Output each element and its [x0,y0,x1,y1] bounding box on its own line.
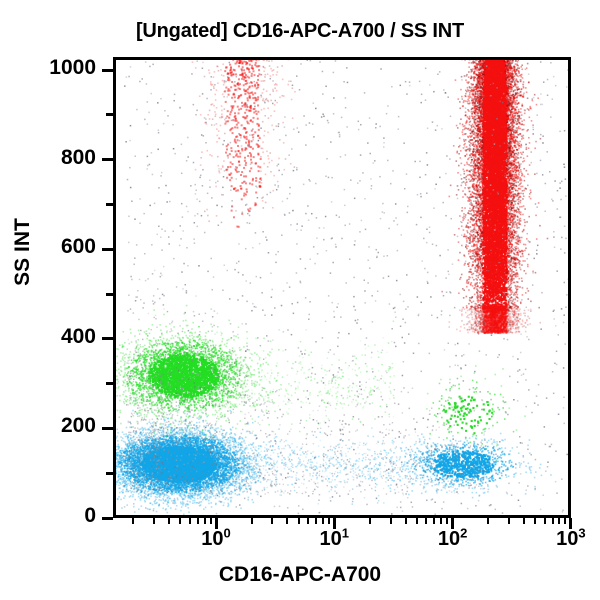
x-tick-minor [544,518,546,524]
y-tick-minor [106,293,113,296]
x-tick-label: 101 [320,528,349,551]
x-axis-title: CD16-APC-A700 [0,563,600,587]
y-axis-title: SS INT [11,182,35,322]
x-tick-label: 102 [438,528,467,551]
y-tick-label: 400 [26,325,96,349]
x-tick-minor [189,518,191,524]
x-tick-minor [552,518,554,524]
x-tick-minor [322,518,324,524]
x-tick-minor [307,518,309,524]
x-tick-label: 103 [556,528,585,551]
x-tick-minor [440,518,442,524]
y-tick-minor [106,203,113,206]
x-tick-minor [179,518,181,524]
x-tick-minor [433,518,435,524]
y-tick-major [102,337,113,340]
x-tick-minor [487,518,489,524]
x-tick-minor [425,518,427,524]
x-tick-minor [558,518,560,524]
y-tick-major [102,158,113,161]
y-tick-label: 200 [26,414,96,438]
x-tick-label: 100 [201,528,230,551]
x-tick-minor [168,518,170,524]
x-tick-minor [369,518,371,524]
x-tick-minor [204,518,206,524]
y-tick-minor [106,382,113,385]
scatter-plot-canvas [116,60,568,515]
x-tick-minor [523,518,525,524]
x-tick-minor [251,518,253,524]
x-tick-minor [446,518,448,524]
x-tick-minor [416,518,418,524]
x-tick-minor [564,518,566,524]
x-tick-minor [286,518,288,524]
x-tick-minor [153,518,155,524]
x-tick-minor [298,518,300,524]
x-tick-minor [534,518,536,524]
x-tick-minor [328,518,330,524]
y-tick-major [102,69,113,72]
page-title: [Ungated] CD16-APC-A700 / SS INT [0,20,600,43]
y-tick-major [102,427,113,430]
y-tick-major [102,248,113,251]
y-tick-label: 600 [26,235,96,259]
flow-cytometry-plot: [Ungated] CD16-APC-A700 / SS INT 0200400… [0,0,600,600]
y-tick-major [102,517,113,520]
x-tick-minor [315,518,317,524]
y-tick-label: 0 [26,504,96,528]
x-tick-minor [197,518,199,524]
x-tick-minor [271,518,273,524]
x-tick-minor [405,518,407,524]
y-tick-minor [106,472,113,475]
x-tick-minor [210,518,212,524]
y-tick-minor [106,113,113,116]
x-tick-minor [390,518,392,524]
y-tick-label: 1000 [26,56,96,80]
x-tick-minor [132,518,134,524]
x-tick-minor [508,518,510,524]
y-tick-label: 800 [26,146,96,170]
